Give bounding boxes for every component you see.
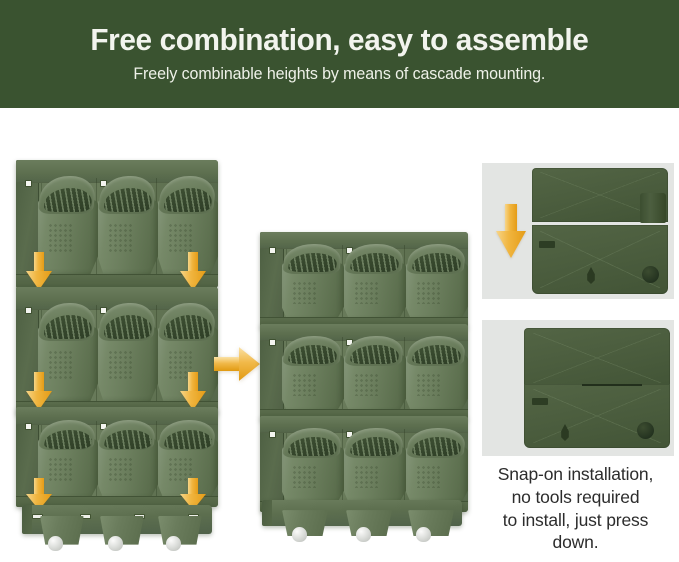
- base-foot: [108, 536, 123, 551]
- infographic-page: Free combination, easy to assemble Freel…: [0, 0, 679, 562]
- mount-hole-icon: [25, 423, 32, 430]
- planter-pocket: [98, 420, 158, 500]
- planter-pocket: [98, 303, 158, 403]
- snap-tab-icon: [532, 398, 548, 405]
- header-banner: Free combination, easy to assemble Freel…: [0, 0, 679, 108]
- detail-bolt-icon: [637, 422, 654, 439]
- planter-pocket: [344, 336, 406, 414]
- assembled-row-top: [260, 232, 468, 328]
- base-foot: [166, 536, 181, 551]
- planter-pocket: [282, 336, 344, 414]
- snap-detail-before-panel: [482, 163, 674, 299]
- cascade-arrow-down-icon: [180, 372, 206, 410]
- base-foot: [356, 527, 371, 542]
- assemble-arrow-right-icon: [214, 347, 260, 381]
- base-foot: [48, 536, 63, 551]
- mount-hole-icon: [25, 307, 32, 314]
- page-subtitle: Freely combinable heights by means of ca…: [134, 65, 546, 84]
- cascade-arrow-down-icon: [180, 252, 206, 290]
- press-down-arrow-icon: [496, 204, 526, 258]
- planter-pocket: [98, 176, 158, 276]
- page-title: Free combination, easy to assemble: [90, 24, 588, 57]
- base-foot: [416, 527, 431, 542]
- snap-tab-icon: [539, 241, 555, 248]
- planter-pocket: [406, 428, 468, 506]
- assembled-row-bottom: [260, 416, 468, 512]
- detail-lower-piece: [532, 225, 668, 294]
- planter-pocket: [406, 336, 468, 414]
- planter-pocket: [282, 428, 344, 506]
- caption-line: to install, just press: [472, 509, 679, 532]
- planter-pocket: [344, 244, 406, 322]
- detail-upper-piece: [524, 328, 670, 388]
- snap-post-icon: [640, 193, 666, 223]
- caption-line: Snap-on installation,: [472, 463, 679, 486]
- detail-bolt-icon: [642, 266, 659, 283]
- caption-line: no tools required: [472, 486, 679, 509]
- snap-detail-after-panel: [482, 320, 674, 456]
- mount-hole-icon: [25, 180, 32, 187]
- cascade-arrow-down-icon: [26, 372, 52, 410]
- planter-pocket: [344, 428, 406, 506]
- joined-seam: [582, 384, 642, 386]
- assembled-planter-stack: [260, 232, 468, 520]
- base-bracket: [408, 510, 454, 536]
- base-rail-assembled: [262, 500, 462, 542]
- base-rail-left: [22, 505, 212, 551]
- planter-pocket: [282, 244, 344, 322]
- pocket-ribbed-interior: [43, 188, 94, 212]
- assembled-row-middle: [260, 324, 468, 420]
- planter-pocket: [406, 244, 468, 322]
- cascade-arrow-down-icon: [26, 252, 52, 290]
- caption-line: down.: [472, 531, 679, 554]
- base-foot: [292, 527, 307, 542]
- snap-on-caption: Snap-on installation, no tools required …: [472, 463, 679, 554]
- pocket-ribbed-interior: [163, 188, 214, 212]
- pocket-ribbed-interior: [103, 188, 154, 212]
